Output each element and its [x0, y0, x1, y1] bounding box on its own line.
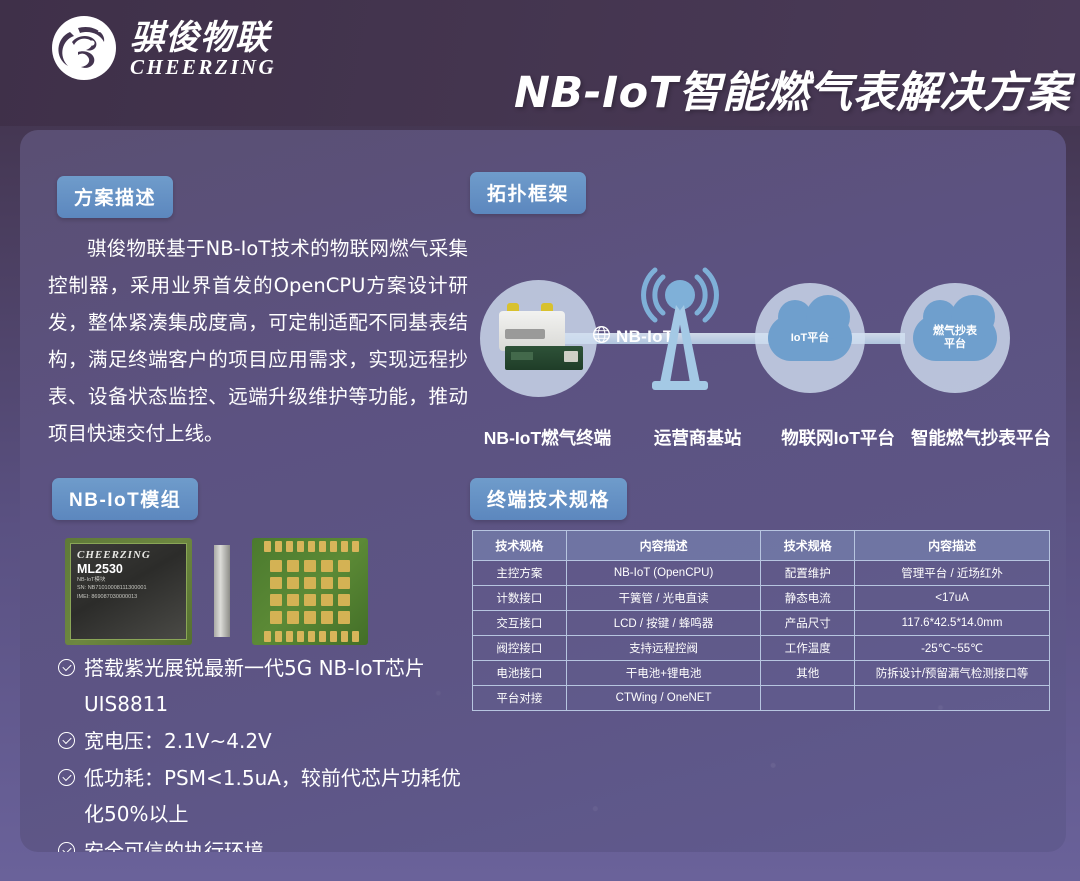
topology-captions: NB-IoT燃气终端 运营商基站 物联网IoT平台 智能燃气抄表平台 [470, 425, 1056, 450]
cell-key: 电池接口 [473, 661, 567, 686]
list-item: 搭载紫光展锐最新一代5G NB-IoT芯片UIS8811 [58, 650, 478, 722]
cell-value: 干簧管 / 光电直读 [566, 586, 761, 611]
table-row: 平台对接 CTWing / OneNET [473, 686, 1050, 711]
brand-name-cn: 骐俊物联 [130, 21, 276, 57]
feature-text: 低功耗：PSM<1.5uA，较前代芯片功耗优化50%以上 [84, 760, 478, 832]
pill-module: NB-IoT模组 [52, 478, 198, 520]
content-panel: 方案描述 骐俊物联基于NB-IoT技术的物联网燃气采集控制器，采用业界首发的Op… [20, 130, 1066, 852]
topology-caption-3: 智能燃气抄表平台 [906, 425, 1056, 450]
cloud-label-iot: IoT平台 [791, 332, 830, 345]
module-side-image [214, 545, 230, 637]
cloud-label-gas-platform: 燃气抄表 平台 [933, 325, 977, 351]
module-model: ML2530 [77, 562, 180, 576]
table-row: 主控方案 NB-IoT (OpenCPU) 配置维护 管理平台 / 近场红外 [473, 561, 1050, 586]
module-photos: CHEERZING ML2530 NB-IoT模块 SN: NB71010008… [65, 532, 405, 650]
topology-caption-1: 运营商基站 [625, 425, 770, 450]
module-line1: NB-IoT模块 [77, 577, 180, 585]
table-row: 电池接口 干电池+锂电池 其他 防拆设计/预留漏气检测接口等 [473, 661, 1050, 686]
module-line2: SN: NB71010008111300001 [77, 585, 180, 593]
check-circle-icon [58, 659, 75, 676]
cell-key: 交互接口 [473, 611, 567, 636]
brand-logo: 骐俊物联 CHEERZING [48, 12, 276, 84]
cell-key: 平台对接 [473, 686, 567, 711]
module-pad-grid [270, 560, 350, 624]
table-row: 计数接口 干簧管 / 光电直读 静态电流 <17uA [473, 586, 1050, 611]
topology-node-gas-platform: 燃气抄表 平台 [900, 283, 1010, 393]
cell-key: 计数接口 [473, 586, 567, 611]
table-row: 交互接口 LCD / 按键 / 蜂鸣器 产品尺寸 117.6*42.5*14.0… [473, 611, 1050, 636]
cell-value: <17uA [855, 586, 1050, 611]
topology-caption-0: NB-IoT燃气终端 [470, 425, 625, 450]
cell-key: 静态电流 [761, 586, 855, 611]
cell-value: CTWing / OneNET [566, 686, 761, 711]
cell-key: 工作温度 [761, 636, 855, 661]
description-text: 骐俊物联基于NB-IoT技术的物联网燃气采集控制器，采用业界首发的OpenCPU… [48, 230, 468, 452]
feature-text: 搭载紫光展锐最新一代5G NB-IoT芯片UIS8811 [84, 650, 478, 722]
cell-value: 支持远程控阀 [566, 636, 761, 661]
cell-value: NB-IoT (OpenCPU) [566, 561, 761, 586]
brand-name-en: CHEERZING [130, 56, 276, 79]
module-brand: CHEERZING [77, 549, 180, 561]
topology-caption-2: 物联网IoT平台 [770, 425, 906, 450]
cell-value: LCD / 按键 / 蜂鸣器 [566, 611, 761, 636]
column-header-1: 内容描述 [566, 531, 761, 561]
cheerzing-logo-icon [48, 12, 120, 84]
globe-icon [592, 325, 611, 349]
module-front-image: CHEERZING ML2530 NB-IoT模块 SN: NB71010008… [65, 538, 192, 645]
table-row: 阀控接口 支持远程控阀 工作温度 -25℃~55℃ [473, 636, 1050, 661]
check-circle-icon [58, 842, 75, 852]
cell-value: 管理平台 / 近场红外 [855, 561, 1050, 586]
cell-value: 防拆设计/预留漏气检测接口等 [855, 661, 1050, 686]
section-heading-module: NB-IoT模组 [52, 478, 198, 520]
list-item: 宽电压：2.1V~4.2V [58, 723, 478, 759]
cell-key: 配置维护 [761, 561, 855, 586]
topology-node-gas-terminal [480, 280, 597, 397]
cell-value: 干电池+锂电池 [566, 661, 761, 686]
module-line3: IMEI: 869087030000013 [77, 594, 180, 602]
module-pads-bottom [264, 631, 359, 642]
pill-description: 方案描述 [57, 176, 173, 218]
section-heading-description: 方案描述 [57, 176, 173, 218]
page-title: NB-IoT智能燃气表解决方案 [514, 58, 1070, 120]
topology-node-base-station [636, 263, 724, 398]
feature-text: 宽电压：2.1V~4.2V [84, 723, 478, 759]
column-header-2: 技术规格 [761, 531, 855, 561]
column-header-3: 内容描述 [855, 531, 1050, 561]
cell-value [855, 686, 1050, 711]
cell-value: -25℃~55℃ [855, 636, 1050, 661]
table-header-row: 技术规格 内容描述 技术规格 内容描述 [473, 531, 1050, 561]
section-heading-topology: 拓扑框架 [470, 172, 586, 214]
list-item: 安全可信的执行环境 [58, 833, 478, 852]
cell-key: 产品尺寸 [761, 611, 855, 636]
cell-key: 阀控接口 [473, 636, 567, 661]
cell-key: 其他 [761, 661, 855, 686]
cloud-icon: 燃气抄表 平台 [913, 315, 997, 361]
gas-meter-icon [493, 301, 585, 377]
pill-topology: 拓扑框架 [470, 172, 586, 214]
section-heading-spec: 终端技术规格 [470, 478, 627, 520]
check-circle-icon [58, 769, 75, 786]
brand-wordmark: 骐俊物联 CHEERZING [130, 17, 276, 80]
feature-text: 安全可信的执行环境 [84, 833, 478, 852]
topology-node-iot-platform: IoT平台 [755, 283, 865, 393]
cloud-icon: IoT平台 [768, 315, 852, 361]
pill-spec: 终端技术规格 [470, 478, 627, 520]
list-item: 低功耗：PSM<1.5uA，较前代芯片功耗优化50%以上 [58, 760, 478, 832]
module-back-image [252, 538, 368, 645]
check-circle-icon [58, 732, 75, 749]
page-header: 骐俊物联 CHEERZING NB-IoT智能燃气表解决方案 [0, 0, 1080, 126]
column-header-0: 技术规格 [473, 531, 567, 561]
module-pads-top [264, 541, 359, 552]
spec-table: 技术规格 内容描述 技术规格 内容描述 主控方案 NB-IoT (OpenCPU… [472, 530, 1050, 711]
module-feature-list: 搭载紫光展锐最新一代5G NB-IoT芯片UIS8811 宽电压：2.1V~4.… [58, 650, 478, 852]
cell-value: 117.6*42.5*14.0mm [855, 611, 1050, 636]
cell-key: 主控方案 [473, 561, 567, 586]
topology-diagram: NB-IoT IoT平台 燃气抄表 [470, 225, 1050, 425]
cell-key [761, 686, 855, 711]
